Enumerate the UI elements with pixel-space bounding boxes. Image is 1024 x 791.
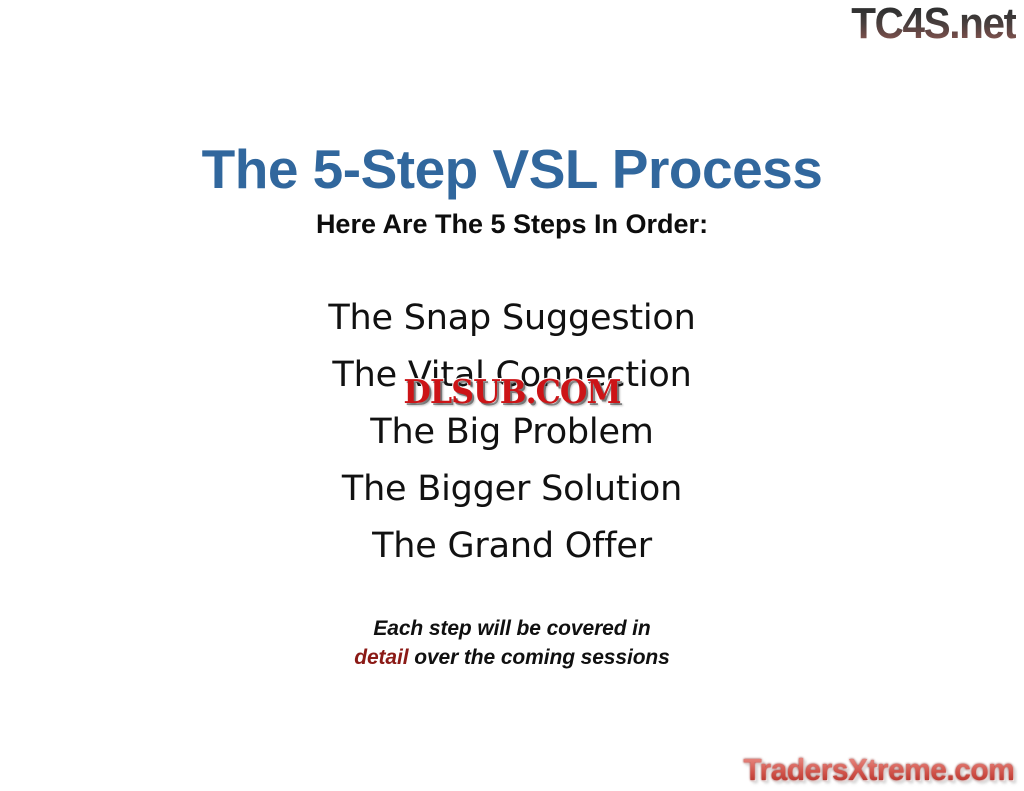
page-subtitle: Here Are The 5 Steps In Order:	[0, 210, 1024, 240]
list-item: The Grand Offer	[0, 518, 1024, 575]
page-title: The 5-Step VSL Process	[0, 141, 1024, 199]
slide-canvas: TC4S.net The 5-Step VSL Process Here Are…	[0, 0, 1024, 791]
caption-accent-word: detail	[354, 646, 408, 669]
list-item: The Snap Suggestion	[0, 290, 1024, 347]
list-item: The Big Problem	[0, 404, 1024, 461]
list-item: The Bigger Solution	[0, 461, 1024, 518]
caption-line-2: detail over the coming sessions	[0, 643, 1024, 672]
tradersxtreme-logo: TradersXtreme.com	[743, 754, 1014, 785]
tc4s-logo: TC4S.net	[852, 2, 1016, 46]
dlsub-watermark: DLSUB.COM	[403, 375, 620, 408]
steps-list: The Snap Suggestion The Vital Connection…	[0, 290, 1024, 575]
caption-line-2-rest: over the coming sessions	[408, 646, 669, 669]
caption: Each step will be covered in detail over…	[0, 614, 1024, 672]
caption-line-1: Each step will be covered in	[0, 614, 1024, 643]
